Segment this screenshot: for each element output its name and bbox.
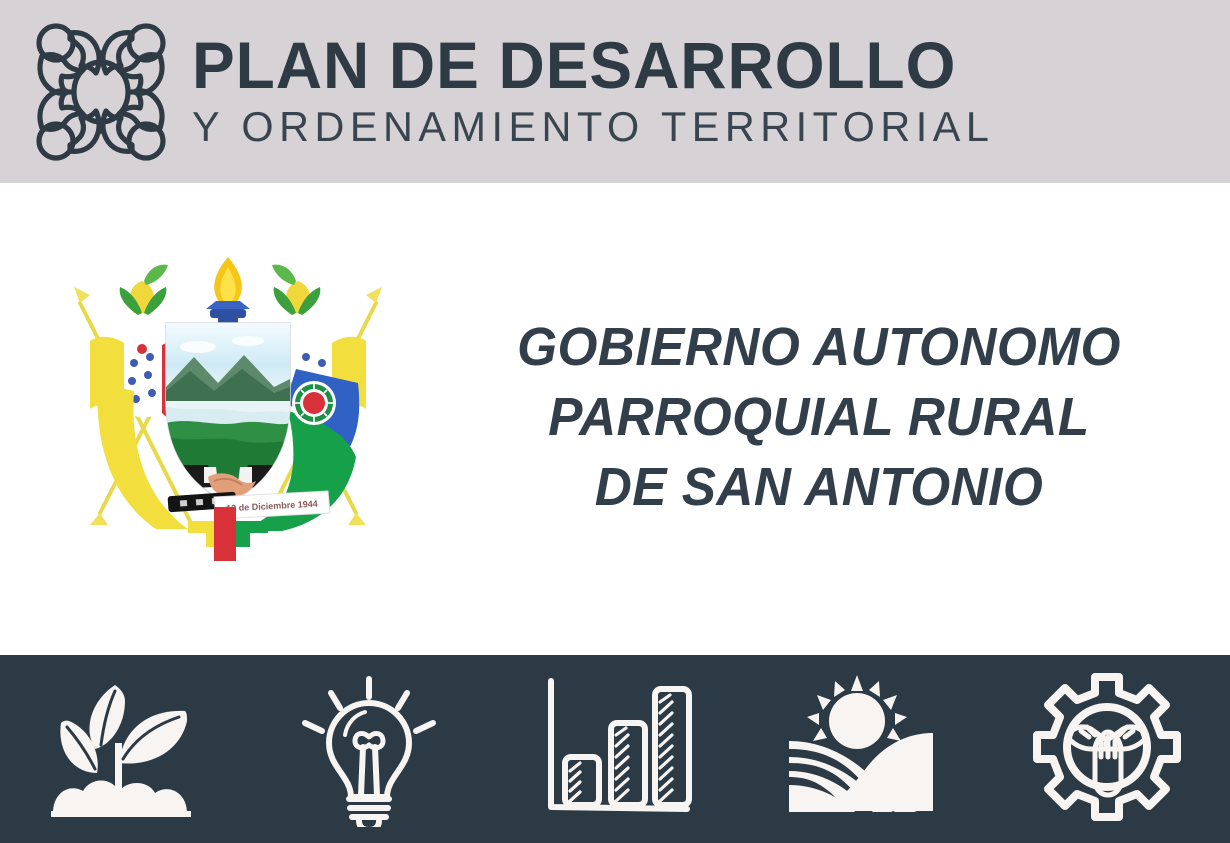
bar-chart-icon (529, 663, 701, 835)
header-title-block: PLAN DE DESARROLLO Y ORDENAMIENTO TERRIT… (192, 31, 1007, 151)
header-title-secondary: Y ORDENAMIENTO TERRITORIAL (192, 102, 994, 152)
header-band: PLAN DE DESARROLLO Y ORDENAMIENTO TERRIT… (0, 0, 1230, 183)
page-title-line-1: GOBIERNO AUTONOMO (438, 312, 1200, 382)
body-area: 12 de Diciembre 1944 GOBIERN (0, 183, 1230, 655)
page-title-line-3: DE SAN ANTONIO (438, 452, 1200, 522)
gear-hands-icon (1021, 663, 1193, 835)
plant-seedling-icon (37, 663, 209, 835)
page-title: GOBIERNO AUTONOMO PARROQUIAL RURAL DE SA… (418, 312, 1230, 523)
light-bulb-icon (283, 663, 455, 835)
header-title-primary: PLAN DE DESARROLLO (192, 33, 982, 98)
coat-of-arms-icon: 12 de Diciembre 1944 (38, 251, 418, 581)
footer-icon-bar (0, 655, 1230, 843)
page-title-line-2: PARROQUIAL RURAL (438, 382, 1200, 452)
sun-fields-icon (775, 663, 947, 835)
four-people-circle-logo-icon (26, 16, 176, 168)
